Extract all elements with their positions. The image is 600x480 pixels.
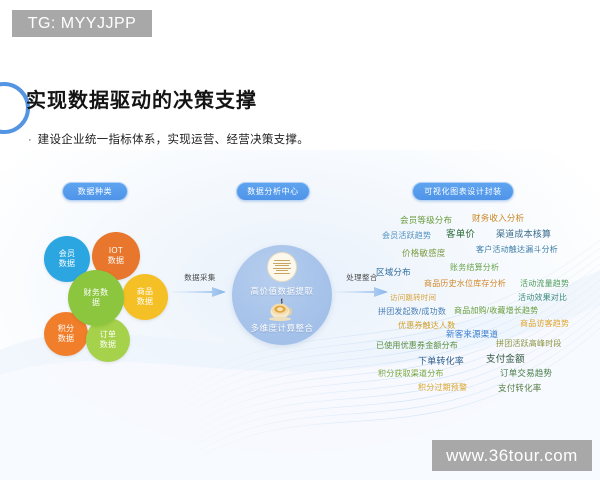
bubble-label-line1: 商品 [137, 287, 154, 297]
metric-keyword: 价格敏感度 [402, 249, 446, 258]
metric-keyword: 拼团活跃高峰时段 [496, 340, 562, 348]
metric-keyword: 积分过期预警 [418, 384, 467, 392]
bubble-label-line2: 数据 [59, 259, 76, 269]
bubble-label-line2: 数据 [108, 256, 125, 266]
bubble-label-line2: 据 [92, 298, 100, 308]
bubble-label-line1: 会员 [59, 249, 76, 259]
metric-keyword: 活动流量趋势 [520, 280, 569, 288]
watermark-telegram: TG: MYYJJPP [12, 10, 152, 37]
bubble-label-line1: 财务数 [84, 288, 109, 298]
coffee-cup-icon [265, 297, 299, 321]
analysis-center-circle: 高价值数据提取 多维度计算整合 [232, 245, 332, 345]
section-label-visualization: 可视化图表设计封装 [412, 182, 514, 201]
flow-label-process: 处理整合 [332, 272, 392, 283]
metric-keyword: 账务结算分析 [450, 264, 499, 272]
bullet-marker: · [28, 133, 32, 147]
arrow-right-icon [334, 285, 390, 299]
data-source-bubble-cluster: 会员数据IOT数据财务数据商品数据积分数据订单数据 [30, 232, 180, 360]
subtitle-bullet: · 建设企业统一指标体系，实现运营、经营决策支撑。 [28, 133, 309, 147]
slide-canvas: 实现数据驱动的决策支撑 · 建设企业统一指标体系，实现运营、经营决策支撑。 数据… [0, 0, 600, 480]
metric-keyword: 渠道成本核算 [496, 230, 551, 239]
bubble-label-line2: 数据 [100, 340, 117, 350]
metric-keyword: 商品历史水位库存分析 [424, 280, 506, 288]
metric-keyword: 会员活跃趋势 [382, 232, 431, 240]
metric-keyword: 活动效果对比 [518, 294, 567, 302]
metric-keyword: 下单转化率 [418, 357, 464, 366]
metric-keyword: 积分获取渠道分布 [378, 370, 444, 378]
metric-keyword: 新客来源渠道 [446, 330, 498, 339]
document-badge-icon [267, 252, 297, 282]
metric-keyword: 财务收入分析 [472, 214, 524, 223]
flow-data-collection: 数据采集 [170, 272, 230, 304]
flow-processing-integration: 处理整合 [332, 272, 392, 304]
metric-keyword: 客户活动触达漏斗分析 [476, 246, 558, 254]
data-source-bubble: 商品数据 [122, 274, 168, 320]
analytics-metrics-word-cloud: 会员等级分布财务收入分析会员活跃趋势客单价渠道成本核算价格敏感度客户活动触达漏斗… [372, 212, 596, 384]
section-label-analysis-center: 数据分析中心 [236, 182, 310, 201]
arrow-right-icon [172, 285, 228, 299]
page-title: 实现数据驱动的决策支撑 [26, 84, 257, 113]
flow-label-collect: 数据采集 [170, 272, 230, 283]
watermark-site: www.36tour.com [432, 440, 592, 471]
metric-keyword: 已使用优惠券金额分布 [376, 342, 458, 350]
metric-keyword: 访问跳转时间 [390, 294, 436, 302]
center-text-extract: 高价值数据提取 [232, 285, 332, 297]
bubble-label-line1: 积分 [58, 324, 75, 334]
section-label-data-types: 数据种类 [62, 182, 128, 201]
bubble-label-line1: IOT [109, 246, 123, 256]
bullet-text: 建设企业统一指标体系，实现运营、经营决策支撑。 [38, 133, 309, 147]
metric-keyword: 会员等级分布 [400, 216, 452, 225]
metric-keyword: 商品访客趋势 [520, 320, 569, 328]
metric-keyword: 订单交易趋势 [500, 369, 552, 378]
metric-keyword: 支付金额 [486, 355, 525, 365]
metric-keyword: 拼团发起数/成功数 [378, 308, 446, 316]
center-text-integrate: 多维度计算整合 [232, 322, 332, 334]
bubble-label-line2: 数据 [137, 297, 154, 307]
metric-keyword: 支付转化率 [498, 384, 542, 393]
metric-keyword: 客单价 [446, 230, 475, 240]
bubble-label-line1: 订单 [100, 330, 117, 340]
data-source-bubble: 财务数据 [68, 270, 124, 326]
metric-keyword: 商品加购/收藏增长趋势 [454, 307, 538, 315]
bubble-label-line2: 数据 [58, 334, 75, 344]
